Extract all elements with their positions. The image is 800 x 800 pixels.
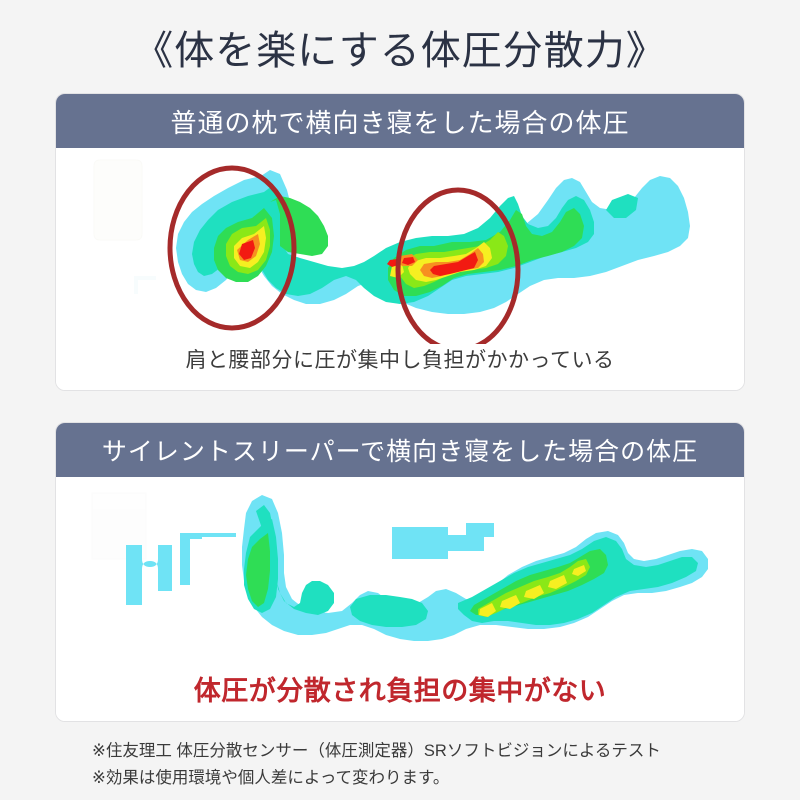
footnote-line-2: ※効果は使用環境や個人差によって変わります。 — [92, 765, 752, 792]
pressure-comparison-page: 《体を楽にする体圧分散力》 普通の枕で横向き寝をした場合の体圧 — [0, 0, 800, 800]
card-header-ordinary-pillow: 普通の枕で横向き寝をした場合の体圧 — [56, 94, 744, 148]
pressure-heatmap-silent-sleeper — [56, 477, 744, 673]
card-body-silent-sleeper: 体圧が分散され負担の集中がない — [56, 477, 744, 722]
footnotes: ※住友理工 体圧分散センサー（体圧測定器）SRソフトビジョンによるテスト ※効果… — [92, 738, 752, 791]
card-silent-sleeper: サイレントスリーパーで横向き寝をした場合の体圧 — [55, 422, 745, 722]
card-ordinary-pillow: 普通の枕で横向き寝をした場合の体圧 — [55, 93, 745, 391]
page-title: 《体を楽にする体圧分散力》 — [0, 18, 800, 76]
card-header-silent-sleeper: サイレントスリーパーで横向き寝をした場合の体圧 — [56, 423, 744, 477]
footnote-line-1: ※住友理工 体圧分散センサー（体圧測定器）SRソフトビジョンによるテスト — [92, 738, 752, 765]
caption-ordinary-pillow: 肩と腰部分に圧が集中し負担がかかっている — [56, 344, 744, 374]
caption-silent-sleeper: 体圧が分散され負担の集中がない — [56, 669, 744, 708]
pressure-heatmap-ordinary-pillow — [56, 148, 744, 344]
card-body-ordinary-pillow: 肩と腰部分に圧が集中し負担がかかっている — [56, 148, 744, 391]
